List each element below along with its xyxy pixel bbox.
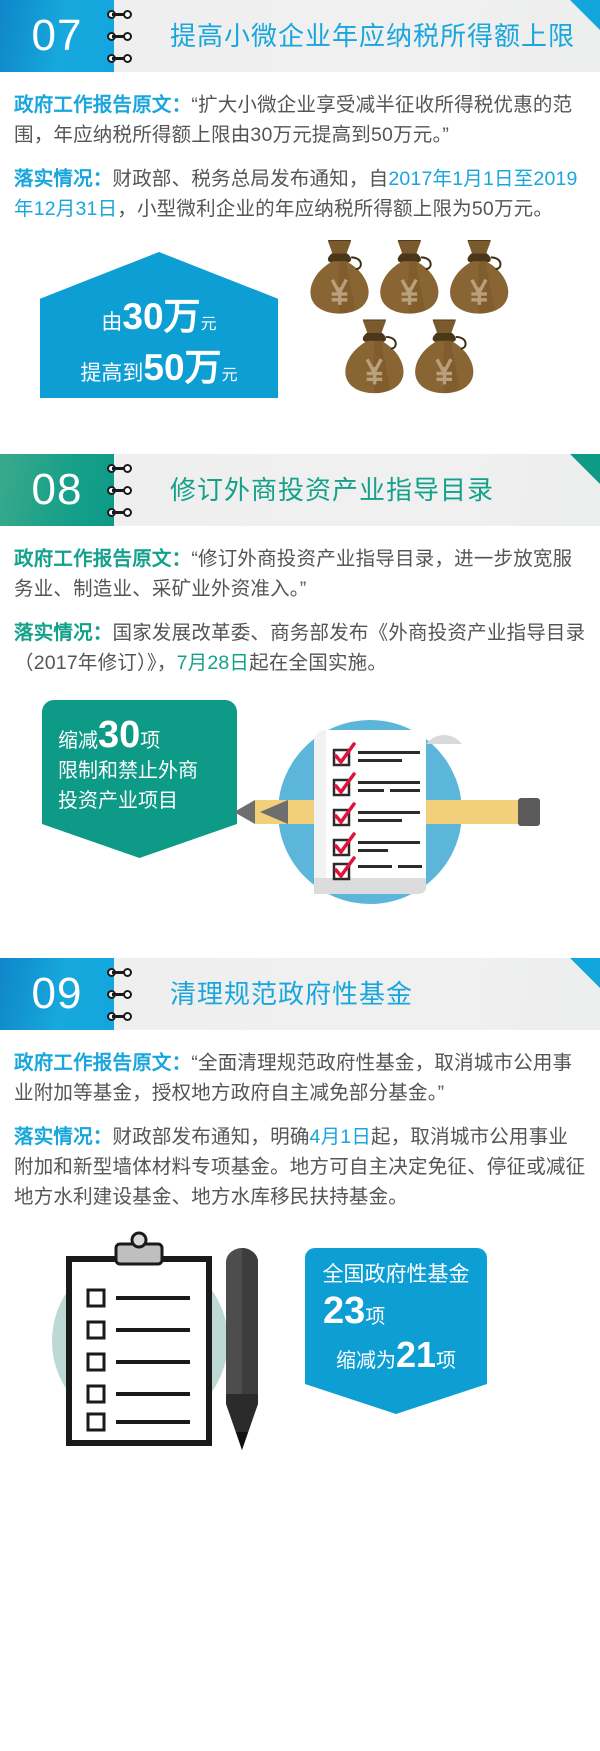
illustration-08: 缩减30项 限制和禁止外商 投资产业项目 — [0, 692, 600, 922]
binder-ring-icon — [107, 508, 137, 517]
section-09: 09 清理规范政府性基金 政府工作报告原文：“全面清理规范政府性基金，取消城市公… — [0, 958, 600, 1456]
callout-line-1: 缩减30项 — [58, 720, 221, 756]
section-body: 政府工作报告原文：“扩大小微企业享受减半征收所得税优惠的范围，年应纳税所得额上限… — [0, 72, 600, 224]
callout-suffix: 元 — [222, 367, 238, 384]
binder-ring-icon — [107, 990, 137, 999]
illustration-07: 由30万元 提高到50万元 — [0, 238, 600, 418]
binder-rings — [107, 0, 141, 72]
paragraph-post: ，小型微利企业的年应纳税所得额上限为50万元。 — [117, 198, 553, 220]
paragraph-pre: 财政部发布通知，明确 — [113, 1126, 310, 1148]
binder-ring-icon — [107, 968, 137, 977]
section-07: 07 提高小微企业年应纳税所得额上限 政府工作报告原文：“扩大小微企业享受减半征… — [0, 0, 600, 418]
illustration-09: 全国政府性基金 23项 缩减为21项 — [0, 1226, 600, 1456]
section-divider — [0, 418, 600, 454]
callout-number: 30 — [98, 714, 140, 756]
binder-rings — [107, 958, 141, 1030]
callout-line-2: 限制和禁止外商 — [58, 756, 221, 786]
callout-line-3: 投资产业项目 — [58, 786, 221, 816]
section-divider — [0, 922, 600, 958]
section-number-block: 09 — [0, 958, 114, 1030]
section-body: 政府工作报告原文：“全面清理规范政府性基金，取消城市公用事业附加等基金，授权地方… — [0, 1030, 600, 1212]
callout-teal-box: 缩减30项 限制和禁止外商 投资产业项目 — [42, 700, 237, 858]
section-number: 09 — [32, 972, 83, 1016]
callout-blue-box: 全国政府性基金 23项 缩减为21项 — [305, 1248, 487, 1414]
callout-suffix: 项 — [436, 1350, 456, 1372]
callout-number: 50万 — [143, 347, 221, 388]
paragraph-lead: 落实情况： — [14, 622, 113, 644]
callout-pennant — [42, 824, 237, 858]
paragraph-original-text: 政府工作报告原文：“修订外商投资产业指导目录，进一步放宽服务业、制造业、采矿业外… — [14, 544, 586, 604]
callout-number: 30万 — [122, 296, 200, 337]
paragraph-lead: 政府工作报告原文： — [14, 94, 191, 116]
paragraph-pre: 财政部、税务总局发布通知，自 — [113, 168, 389, 190]
paragraph-original-text: 政府工作报告原文：“扩大小微企业享受减半征收所得税优惠的范围，年应纳税所得额上限… — [14, 90, 586, 150]
callout-pentagon: 由30万元 提高到50万元 — [40, 252, 278, 398]
corner-triangle-icon — [570, 454, 600, 484]
binder-ring-icon — [107, 32, 137, 41]
corner-triangle-icon — [570, 0, 600, 30]
section-title: 清理规范政府性基金 — [170, 979, 413, 1009]
callout-number: 21 — [396, 1334, 436, 1375]
paragraph-implementation: 落实情况：财政部、税务总局发布通知，自2017年1月1日至2019年12月31日… — [14, 164, 586, 224]
binder-ring-icon — [107, 54, 137, 63]
callout-suffix: 元 — [201, 316, 217, 333]
binder-ring-icon — [107, 10, 137, 19]
paragraph-implementation: 落实情况：财政部发布通知，明确4月1日起，取消城市公用事业附加和新型墙体材料专项… — [14, 1122, 586, 1212]
callout-prefix: 由 — [101, 311, 122, 334]
section-header: 07 提高小微企业年应纳税所得额上限 — [0, 0, 600, 72]
section-body: 政府工作报告原文：“修订外商投资产业指导目录，进一步放宽服务业、制造业、采矿业外… — [0, 526, 600, 678]
eraser-icon — [426, 735, 462, 744]
section-title-block: 清理规范政府性基金 — [114, 958, 600, 1030]
infographic-page: 07 提高小微企业年应纳税所得额上限 政府工作报告原文：“扩大小微企业享受减半征… — [0, 0, 600, 1456]
section-header: 08 修订外商投资产业指导目录 — [0, 454, 600, 526]
callout-line-1: 由30万元 — [40, 298, 278, 337]
paragraph-highlight: 7月28日 — [177, 652, 250, 674]
callout-number: 23 — [323, 1290, 365, 1332]
section-number: 08 — [32, 468, 83, 512]
paragraph-lead: 政府工作报告原文： — [14, 548, 191, 570]
callout-prefix: 缩减为 — [336, 1350, 396, 1372]
callout-suffix: 项 — [140, 730, 160, 752]
section-title-block: 提高小微企业年应纳税所得额上限 — [114, 0, 600, 72]
callout-pennant — [305, 1384, 487, 1414]
clipboard-pen-illustration — [30, 1226, 330, 1456]
callout-suffix: 项 — [365, 1306, 385, 1328]
callout-body: 全国政府性基金 23项 缩减为21项 — [305, 1248, 487, 1384]
section-number: 07 — [32, 14, 83, 58]
callout-line-1: 全国政府性基金 — [317, 1260, 475, 1290]
paragraph-lead: 落实情况： — [14, 1126, 113, 1148]
corner-triangle-icon — [570, 958, 600, 988]
section-number-block: 08 — [0, 454, 114, 526]
paragraph-implementation: 落实情况：国家发展改革委、商务部发布《外商投资产业指导目录（2017年修订）》，… — [14, 618, 586, 678]
paragraph-lead: 落实情况： — [14, 168, 113, 190]
section-number-block: 07 — [0, 0, 114, 72]
binder-ring-icon — [107, 1012, 137, 1021]
money-bags-illustration — [305, 238, 535, 398]
callout-prefix: 缩减 — [58, 730, 98, 752]
section-title: 修订外商投资产业指导目录 — [170, 475, 494, 505]
section-header: 09 清理规范政府性基金 — [0, 958, 600, 1030]
paragraph-lead: 政府工作报告原文： — [14, 1052, 191, 1074]
callout-line-2: 23项 — [317, 1290, 475, 1338]
binder-rings — [107, 454, 141, 526]
callout-prefix: 提高到 — [80, 362, 143, 385]
checklist-pencil-illustration — [230, 692, 590, 922]
section-title-block: 修订外商投资产业指导目录 — [114, 454, 600, 526]
binder-ring-icon — [107, 464, 137, 473]
section-title: 提高小微企业年应纳税所得额上限 — [170, 21, 575, 51]
paragraph-original-text: 政府工作报告原文：“全面清理规范政府性基金，取消城市公用事业附加等基金，授权地方… — [14, 1048, 586, 1108]
paragraph-post: 起在全国实施。 — [249, 652, 387, 674]
callout-body: 缩减30项 限制和禁止外商 投资产业项目 — [42, 700, 237, 824]
callout-line-2: 提高到50万元 — [40, 349, 278, 388]
paragraph-highlight: 4月1日 — [310, 1126, 372, 1148]
pen-icon — [226, 1248, 258, 1450]
callout-line-3: 缩减为21项 — [317, 1338, 475, 1378]
binder-ring-icon — [107, 486, 137, 495]
section-08: 08 修订外商投资产业指导目录 政府工作报告原文：“修订外商投资产业指导目录，进… — [0, 454, 600, 922]
